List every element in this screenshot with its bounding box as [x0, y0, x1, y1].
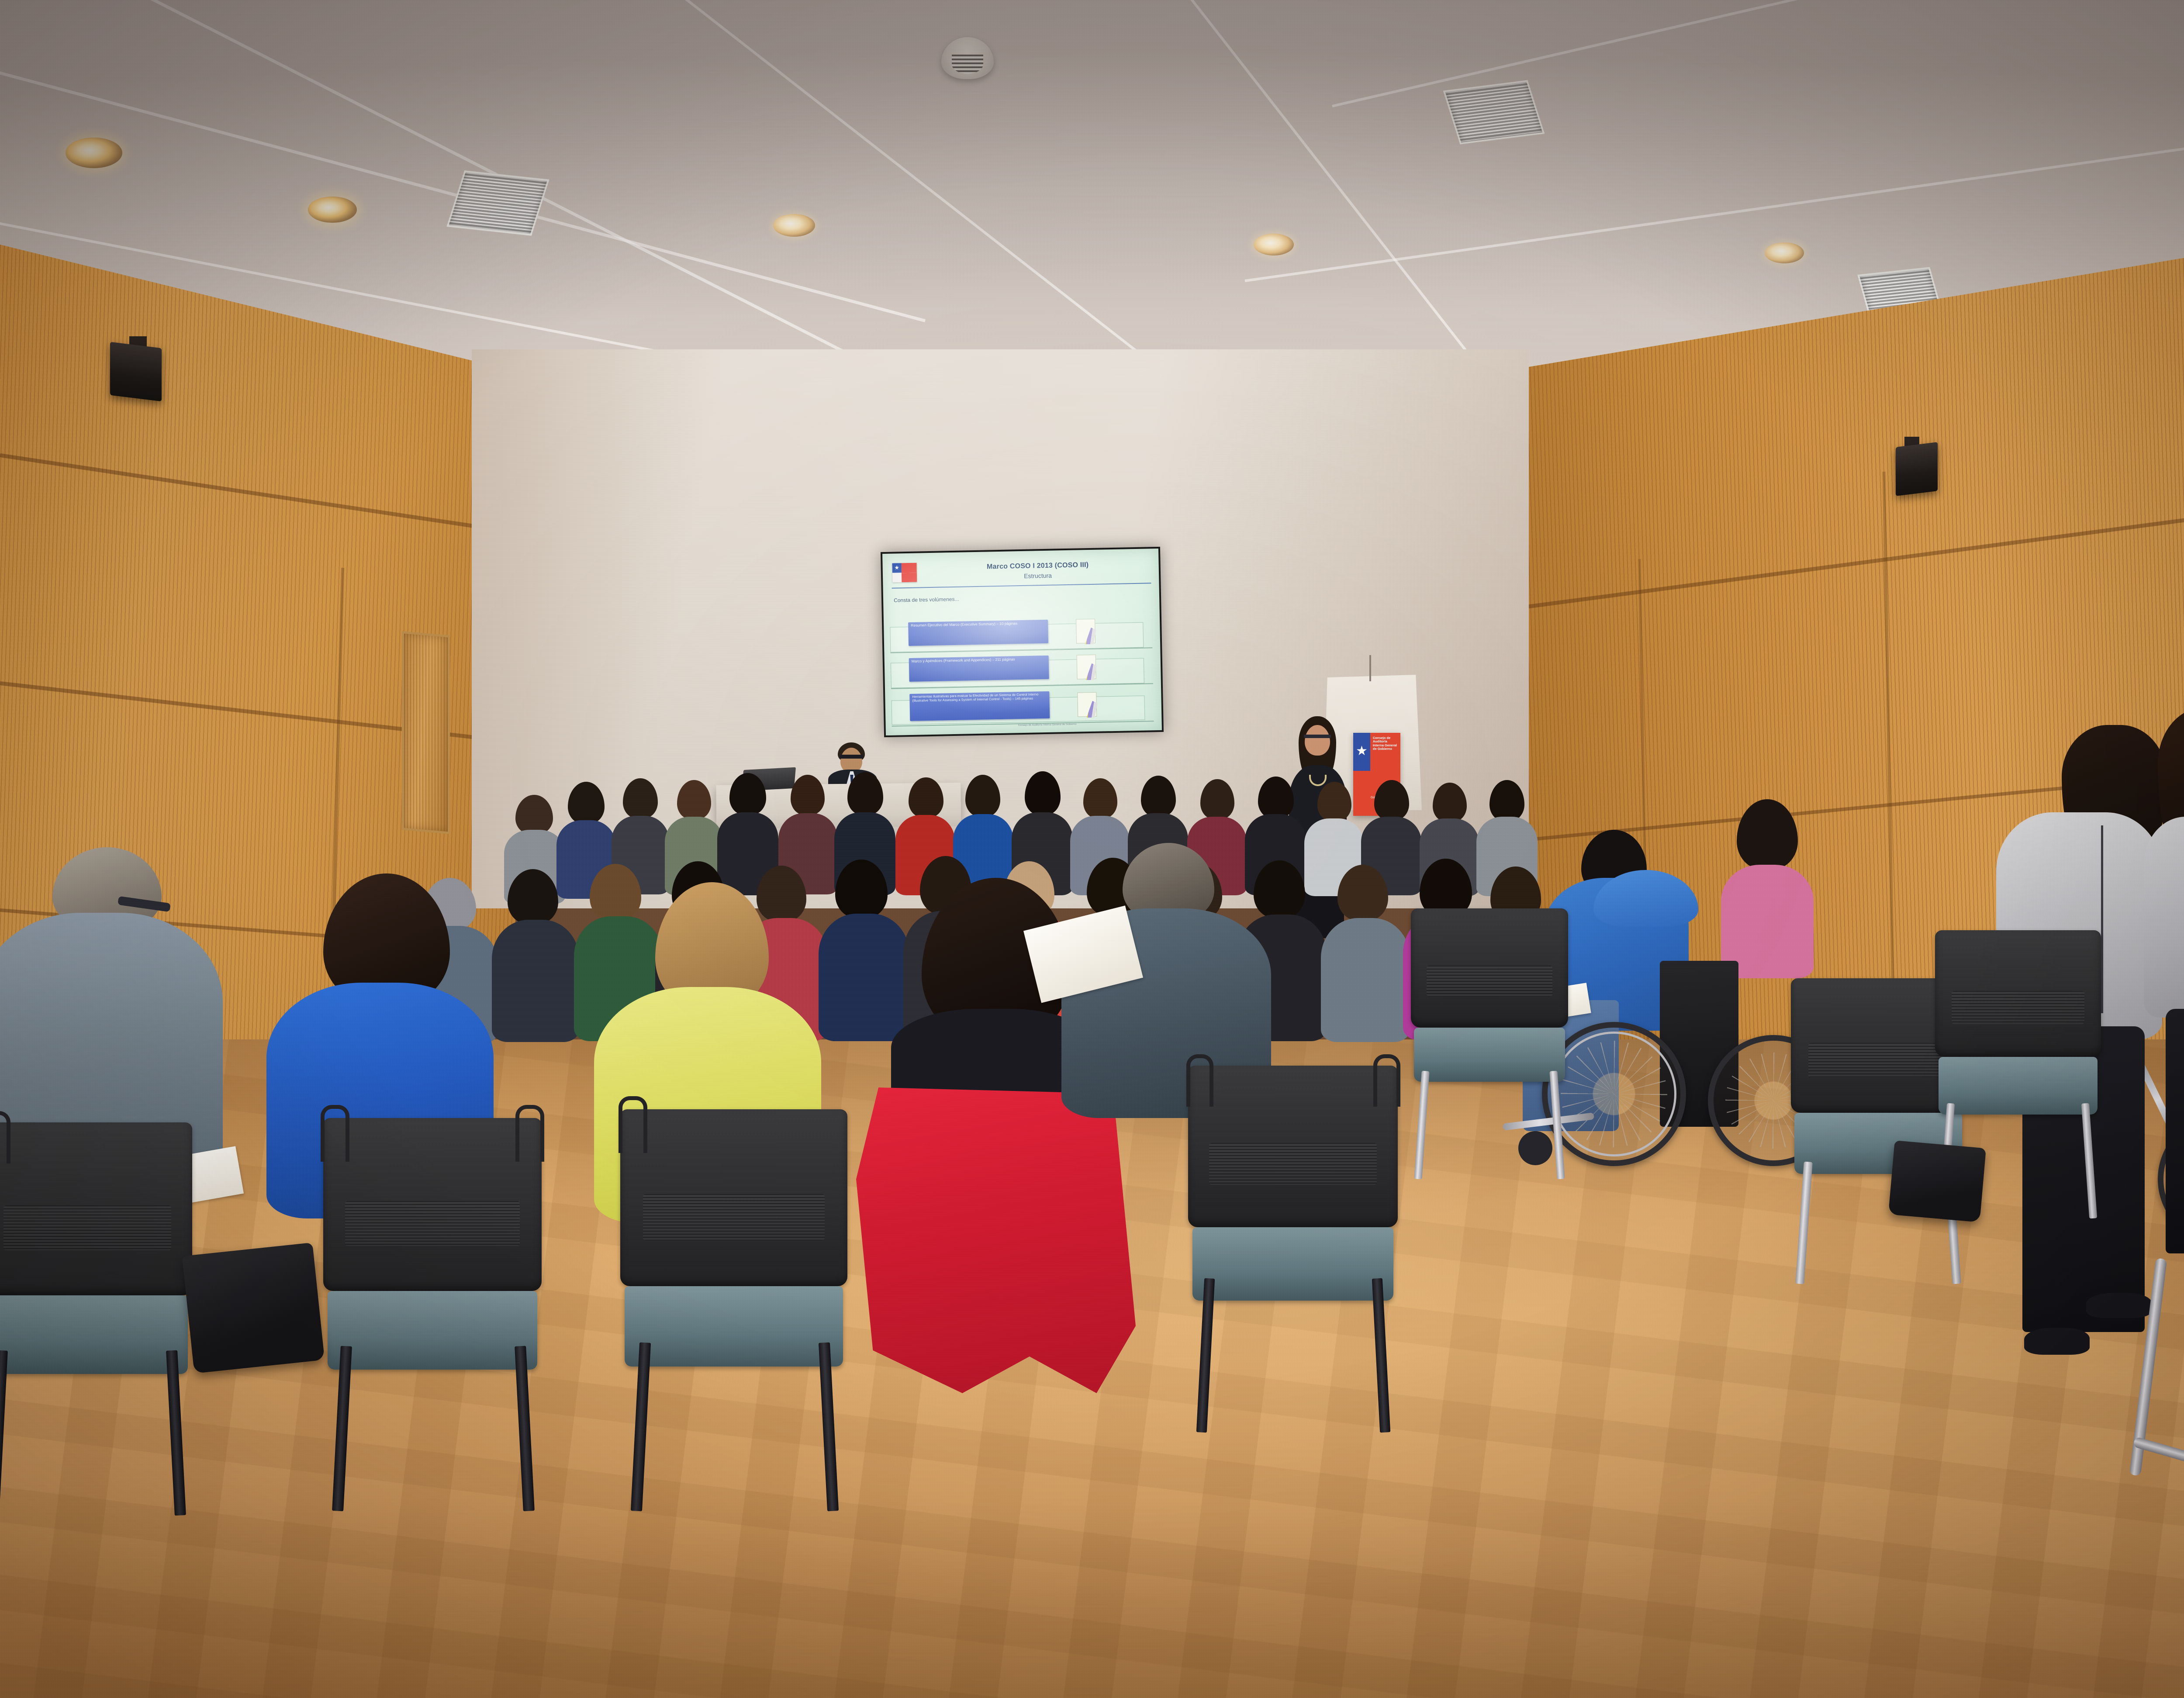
audience-head [1337, 865, 1388, 921]
slide-item-bar: Herramientas Ilustrativas para evaluar l… [909, 691, 1050, 721]
standing-woman-trousers [2166, 1009, 2184, 1253]
slide-subtitle: Estructura [935, 570, 1140, 581]
chair-backrest [1188, 1066, 1398, 1227]
auditorium-photo: ★ Marco COSO I 2013 (COSO III) Estructur… [0, 0, 2184, 1698]
chair-chrome-frame [2081, 1103, 2097, 1219]
slide-item-icon [1076, 619, 1100, 646]
audience-head [965, 775, 1000, 817]
audience-head [909, 777, 943, 818]
chair-seat [625, 1286, 843, 1367]
standing-woman-shoe [2086, 1293, 2152, 1318]
banner-top-band: ★ Consejo de Auditoría Interna General d… [1353, 733, 1400, 771]
audience-head [1141, 776, 1176, 817]
chair-chrome-frame [1549, 1071, 1565, 1180]
wall-mounted-loudspeaker [110, 342, 162, 401]
chair-leg [819, 1342, 839, 1511]
chair-rail [515, 1105, 544, 1162]
chair-seat [0, 1295, 188, 1374]
standing-woman-zipper [2101, 825, 2103, 1013]
chair-chrome-frame [1414, 1071, 1429, 1180]
slide-item-row: Resumen Ejecutivo del Marco (Executive S… [890, 618, 1154, 656]
chair-chrome-frame [1795, 1162, 1812, 1284]
presenter-glasses-icon [1304, 735, 1331, 738]
chair-leg [166, 1350, 186, 1516]
chair-seat [1192, 1227, 1394, 1301]
slide-title: Marco COSO I 2013 (COSO III) [935, 560, 1140, 572]
chair-rail [321, 1105, 349, 1162]
chair-rail [1186, 1054, 1213, 1107]
audience-head [515, 795, 553, 834]
presenter-head [1305, 725, 1330, 756]
audience-head [847, 772, 883, 815]
chair-backrest [1411, 908, 1568, 1028]
banner-pole [1369, 655, 1371, 681]
chair-backrest [0, 1122, 192, 1295]
shoulder-bag[interactable] [182, 1242, 325, 1374]
wall-mounted-loudspeaker [1896, 442, 1938, 496]
side-door[interactable] [402, 631, 450, 834]
chair-leg [1372, 1278, 1390, 1433]
flag-star-icon: ★ [1356, 745, 1368, 758]
standing-woman [2132, 707, 2184, 1275]
audience-head [729, 773, 766, 815]
audience-head [677, 780, 711, 819]
stacking-conference-chair[interactable] [0, 1122, 192, 1515]
audience-head [1083, 778, 1117, 818]
audience-head [508, 869, 558, 924]
chair-leg [0, 1350, 8, 1516]
chair-rail [0, 1111, 10, 1163]
stacking-conference-chair[interactable] [620, 1109, 847, 1511]
slide-lead-in: Consta de tres volúmenes... [894, 594, 1077, 604]
stacking-conference-chair[interactable] [323, 1118, 542, 1511]
audience-head [1489, 780, 1524, 821]
chair-backrest [620, 1109, 847, 1286]
chair-backrest [1935, 930, 2101, 1057]
audience-head [1258, 777, 1294, 818]
standing-woman-jacket [2144, 817, 2184, 1018]
slide-item-icon [1077, 692, 1101, 720]
chair-seat [328, 1291, 537, 1370]
slide-item-bar: Resumen Ejecutivo del Marco (Executive S… [908, 620, 1048, 646]
wheelchair-handrim [1552, 1032, 1676, 1156]
slide-item-text: Marco y Apéndices (Framework and Appendi… [912, 657, 1046, 664]
banner-red-field: Consejo de Auditoría Interna General de … [1370, 733, 1400, 771]
chair-rail [1373, 1054, 1400, 1107]
audience-head [1025, 771, 1061, 815]
chair-leg [1196, 1278, 1215, 1433]
chair-leg [515, 1346, 535, 1512]
standing-woman-shoe [2024, 1328, 2090, 1355]
chair-leg [332, 1346, 352, 1512]
presentation-slide: ★ Marco COSO I 2013 (COSO III) Estructur… [882, 549, 1162, 735]
flag-star-icon: ★ [894, 564, 899, 570]
audience-head [1433, 783, 1467, 822]
audience-head [1317, 782, 1351, 821]
slide-item-text: Resumen Ejecutivo del Marco (Executive S… [911, 621, 1045, 628]
chair-rail [619, 1096, 647, 1153]
stacking-conference-chair[interactable] [1411, 908, 1568, 1179]
banner-organisation: Consejo de Auditoría Interna General de … [1373, 736, 1399, 751]
flag-white-band [892, 573, 902, 582]
shoulder-bag[interactable] [1888, 1140, 1986, 1222]
audience-head [1374, 780, 1409, 820]
chair-seat [1939, 1057, 2098, 1115]
projection-screen: ★ Marco COSO I 2013 (COSO III) Estructur… [881, 547, 1164, 737]
audience-head [623, 778, 658, 818]
chair-backrest [323, 1118, 542, 1291]
chair-seat [1414, 1028, 1565, 1082]
audience-head [791, 775, 825, 815]
slide-item-bar: Marco y Apéndices (Framework and Appendi… [909, 656, 1049, 682]
chair-leg [631, 1342, 651, 1511]
panelist-glasses-icon [840, 755, 863, 759]
slide-item-icon [1077, 655, 1101, 682]
slide-item-text: Herramientas Ilustrativas para evaluar l… [912, 693, 1047, 703]
stacking-conference-chair[interactable] [1188, 1066, 1398, 1432]
audience-torso [1321, 918, 1410, 1042]
audience-head [1200, 779, 1234, 819]
audience-head [568, 782, 605, 824]
slide-item-row: Marco y Apéndices (Framework and Appendi… [891, 653, 1155, 692]
slide-divider [892, 583, 1151, 588]
